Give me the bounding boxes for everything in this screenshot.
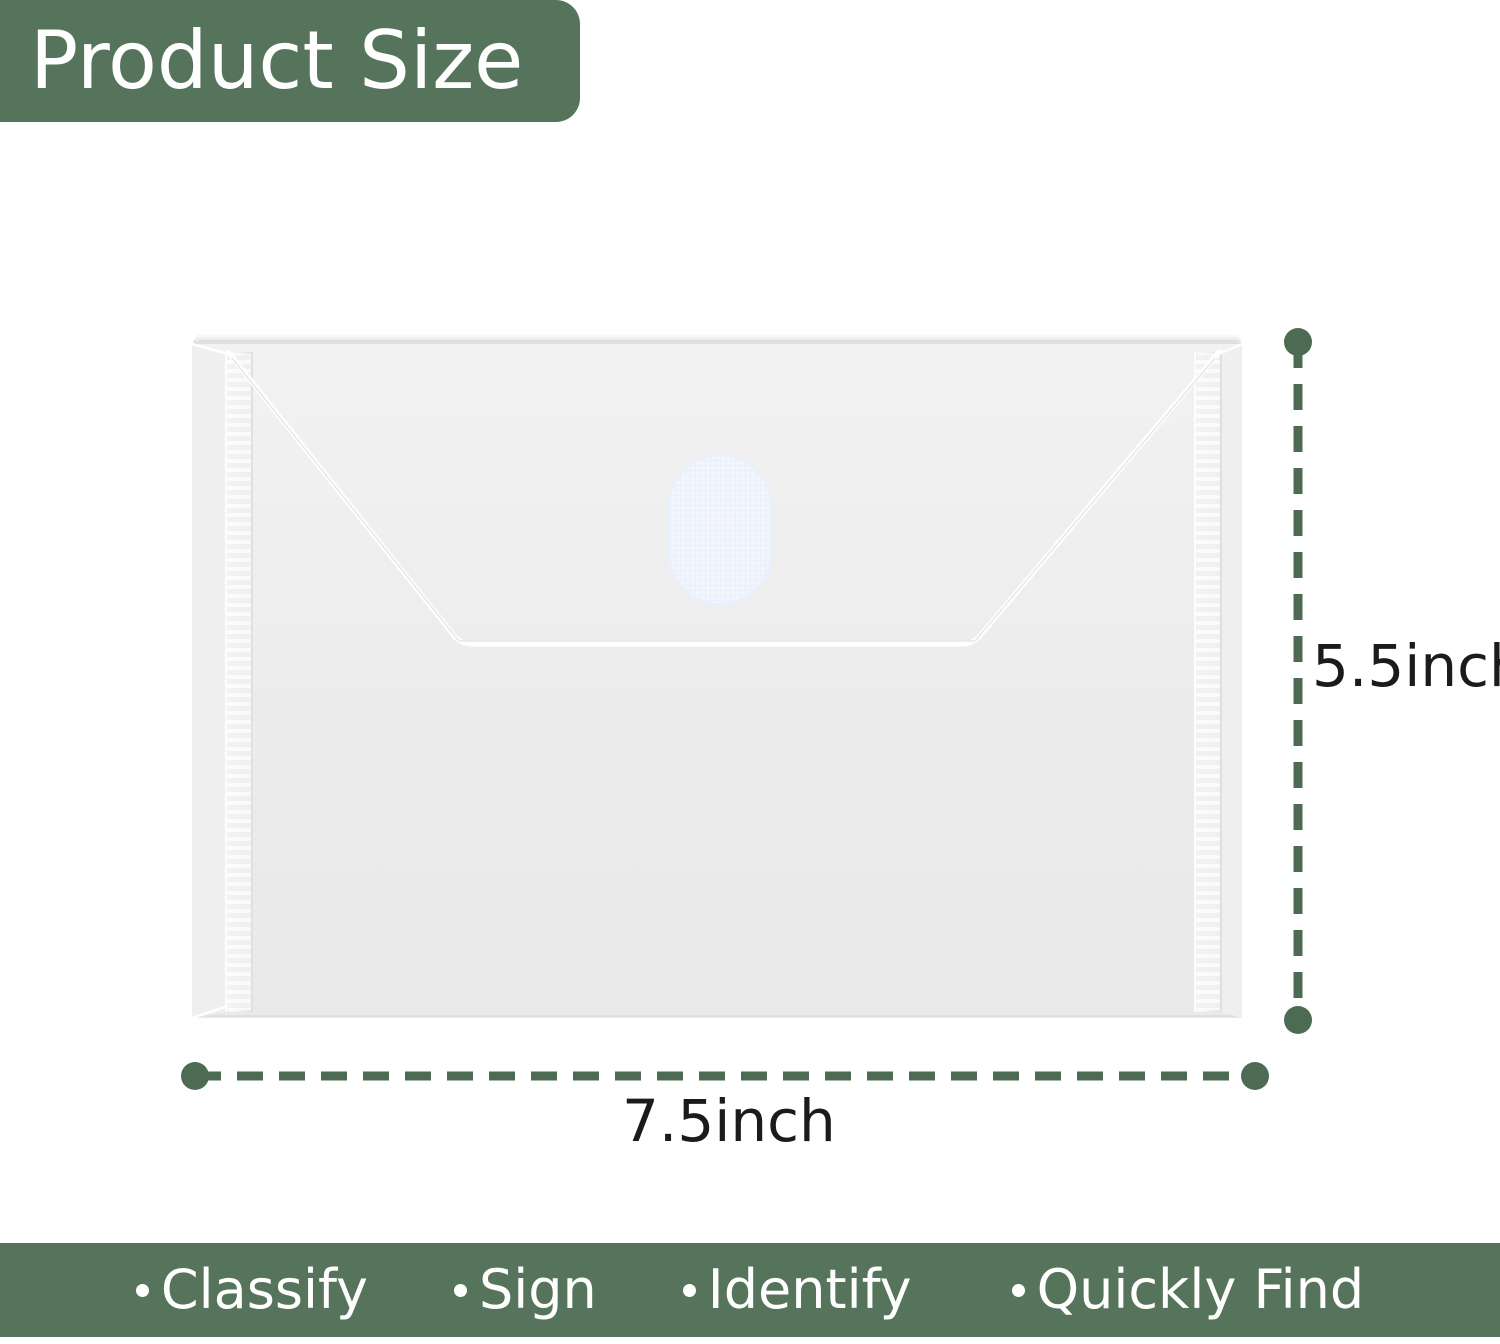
feature-item-identify: Identify bbox=[683, 1263, 912, 1317]
feature-label: Sign bbox=[479, 1263, 597, 1317]
feature-item-classify: Classify bbox=[136, 1263, 368, 1317]
height-line-endpoint-bottom bbox=[1284, 1006, 1312, 1034]
feature-label: Quickly Find bbox=[1037, 1263, 1364, 1317]
width-line-endpoint-left bbox=[181, 1062, 209, 1090]
envelope-left-gusset bbox=[192, 344, 253, 1018]
feature-label: Classify bbox=[161, 1263, 368, 1317]
feature-item-sign: Sign bbox=[454, 1263, 597, 1317]
height-dimension-label: 5.5inch bbox=[1312, 637, 1500, 695]
width-dimension-label: 7.5inch bbox=[622, 1092, 836, 1150]
velcro-dot-closure bbox=[668, 455, 772, 605]
bullet-icon bbox=[136, 1284, 149, 1297]
feature-item-quickly-find: Quickly Find bbox=[1012, 1263, 1364, 1317]
width-line-endpoint-right bbox=[1241, 1062, 1269, 1090]
bullet-icon bbox=[1012, 1284, 1025, 1297]
product-illustration-area: 5.5inch 7.5inch bbox=[0, 0, 1500, 1220]
bullet-icon bbox=[454, 1284, 467, 1297]
feature-bar: Classify Sign Identify Quickly Find bbox=[0, 1243, 1500, 1337]
feature-label: Identify bbox=[708, 1263, 912, 1317]
height-line-endpoint-top bbox=[1284, 328, 1312, 356]
envelope-right-gusset bbox=[1194, 344, 1242, 1018]
product-size-infographic: Product Size bbox=[0, 0, 1500, 1344]
envelope-body bbox=[192, 331, 1242, 1018]
bullet-icon bbox=[683, 1284, 696, 1297]
